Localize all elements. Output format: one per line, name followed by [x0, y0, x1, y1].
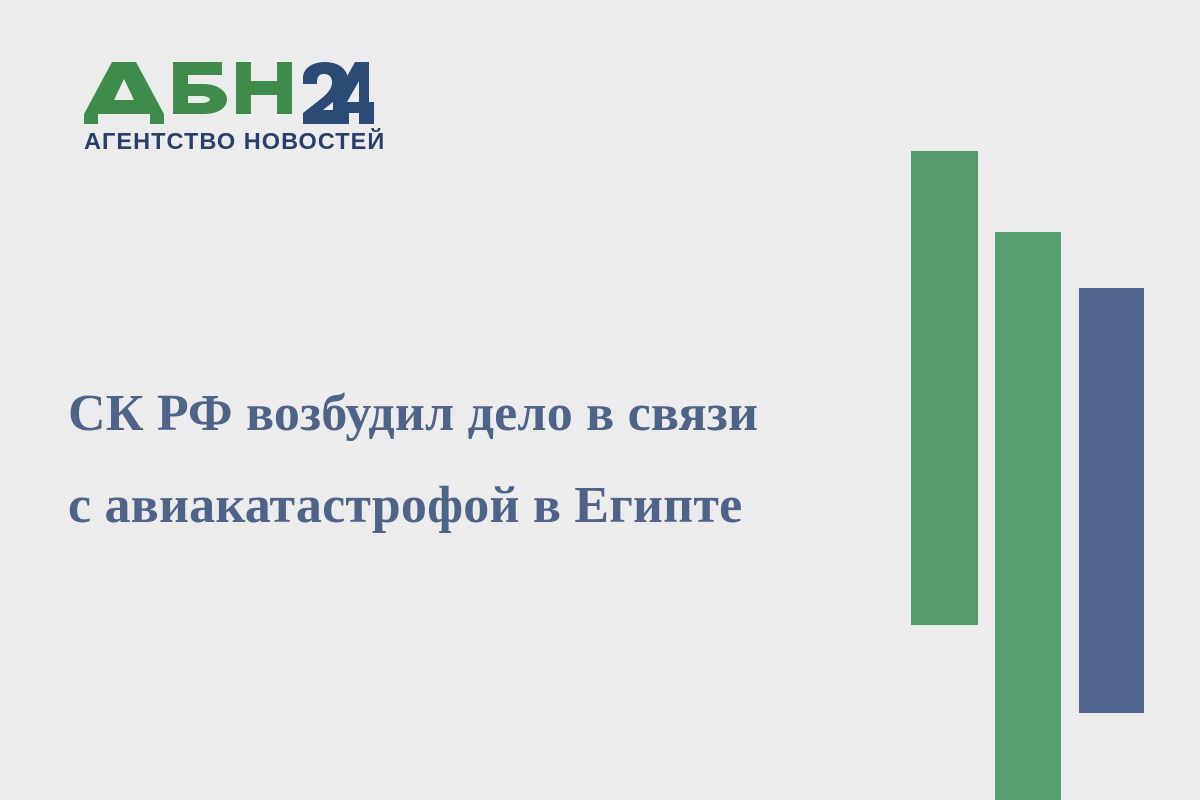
- news-card: .lg { fill: #3d8c4a; } .lb { fill: #2b4b…: [0, 0, 1200, 800]
- decorative-bar-3: [1079, 288, 1144, 713]
- decorative-bar-2: [995, 232, 1061, 800]
- headline: СК РФ возбудил дело в связи с авиакатаст…: [68, 368, 868, 552]
- decorative-bar-1: [911, 151, 978, 625]
- logo-wordmark-icon: .lg { fill: #3d8c4a; } .lb { fill: #2b4b…: [84, 62, 374, 124]
- logo[interactable]: .lg { fill: #3d8c4a; } .lb { fill: #2b4b…: [84, 62, 374, 154]
- headline-line-1: СК РФ возбудил дело в связи: [68, 368, 868, 460]
- logo-tagline: АГЕНТСТВО НОВОСТЕЙ: [84, 130, 374, 154]
- headline-line-2: с авиакатастрофой в Египте: [68, 460, 868, 552]
